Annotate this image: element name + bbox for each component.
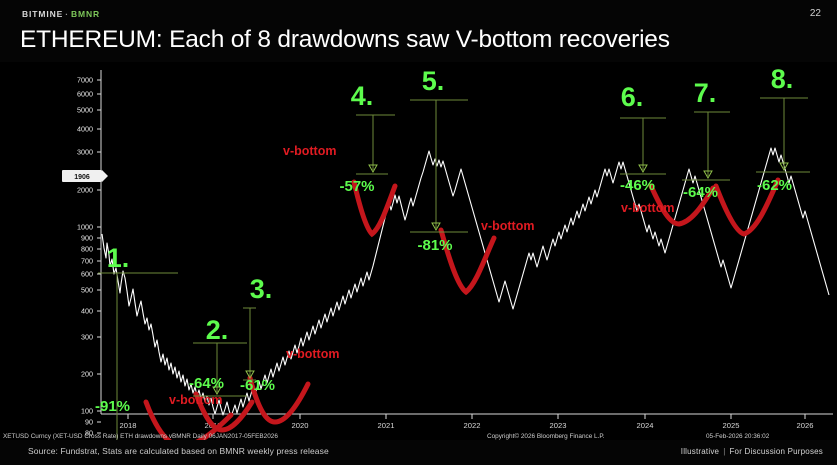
drawdown-pct-1: -91%: [95, 398, 130, 415]
drawdown-pct-4: -57%: [339, 178, 374, 195]
x-tick-label: 2023: [550, 421, 567, 430]
x-tick-label: 2024: [637, 421, 654, 430]
drawdown-pct-5: -81%: [417, 237, 452, 254]
y-tick-label: 100: [81, 407, 93, 416]
page-title: ETHEREUM: Each of 8 drawdowns saw V-bott…: [20, 26, 670, 54]
slide-root: BITMINE·BMNR 22 ETHEREUM: Each of 8 draw…: [0, 0, 837, 465]
brand-separator: ·: [65, 9, 69, 19]
x-tick-label: 2022: [464, 421, 481, 430]
last-price-box: 1906: [62, 170, 108, 182]
drawdown-pct-8: -62%: [757, 177, 792, 194]
y-tick-label: 90: [85, 418, 93, 427]
drawdown-number-3: 3.: [250, 274, 273, 304]
drawdown-pct-7: -64%: [683, 184, 718, 201]
x-tick-label: 2026: [797, 421, 814, 430]
drawdown-pct-2: -64%: [189, 375, 224, 392]
y-tick-label: 900: [81, 234, 93, 243]
vbottom-label-3: v-bottom: [286, 347, 339, 361]
drawdown-number-1: 1.: [107, 243, 130, 273]
vbottom-label-6: v-bottom: [621, 201, 674, 215]
y-tick-label: 700: [81, 257, 93, 266]
brand-name: BITMINE: [22, 9, 63, 19]
disclaimer-purpose: For Discussion Purposes: [729, 447, 823, 456]
x-tick-label: 2018: [120, 421, 137, 430]
drawdown-number-2: 2.: [206, 315, 229, 345]
disclaimer: Illustrative|For Discussion Purposes: [681, 447, 823, 456]
vbottom-label-5: v-bottom: [481, 219, 534, 233]
drawdown-number-5: 5.: [422, 66, 445, 96]
drawdown-number-7: 7.: [694, 78, 717, 108]
y-tick-label: 500: [81, 286, 93, 295]
eth-drawdown-chart: 7000 6000 5000 4000 3000: [0, 62, 837, 440]
x-tick-label: 2020: [292, 421, 309, 430]
y-tick-label: 6000: [77, 90, 93, 99]
y-tick-label: 7000: [77, 76, 93, 85]
vbottom-label-4: v-bottom: [283, 144, 336, 158]
source-note: Source: Fundstrat, Stats are calculated …: [28, 446, 329, 456]
y-tick-label: 600: [81, 270, 93, 279]
last-price-value: 1906: [74, 174, 90, 181]
drawdown-number-6: 6.: [621, 82, 644, 112]
drawdown-pct-3: -61%: [240, 377, 275, 394]
y-tick-label: 4000: [77, 125, 93, 134]
disclaimer-illustrative: Illustrative: [681, 447, 719, 456]
bloomberg-copyright: Copyright© 2026 Bloomberg Finance L.P.: [487, 432, 605, 440]
y-tick-label: 1000: [77, 223, 93, 232]
drawdown-number-8: 8.: [771, 64, 794, 94]
x-tick-label: 2021: [378, 421, 395, 430]
x-tick-label: 2025: [723, 421, 740, 430]
y-tick-label: 200: [81, 370, 93, 379]
y-tick-label: 400: [81, 307, 93, 316]
y-tick-label: 800: [81, 245, 93, 254]
y-tick-label: 300: [81, 333, 93, 342]
y-tick-label: 5000: [77, 106, 93, 115]
bloomberg-timestamp: 05-Feb-2026 20:36:02: [706, 433, 770, 440]
brand-ticker: BMNR: [71, 9, 100, 19]
disclaimer-separator: |: [723, 447, 725, 456]
y-tick-label: 3000: [77, 148, 93, 157]
bloomberg-security-line: XETUSD Curncy (XET-USD Cross Rate) ETH d…: [3, 433, 278, 440]
brand-label: BITMINE·BMNR: [22, 9, 100, 19]
y-tick-label: 2000: [77, 186, 93, 195]
vbottom-label-1: v-bottom: [169, 393, 222, 407]
drawdown-pct-6: -46%: [620, 177, 655, 194]
page-number: 22: [810, 8, 821, 19]
chart-container: 7000 6000 5000 4000 3000: [0, 62, 837, 440]
drawdown-number-4: 4.: [351, 81, 374, 111]
